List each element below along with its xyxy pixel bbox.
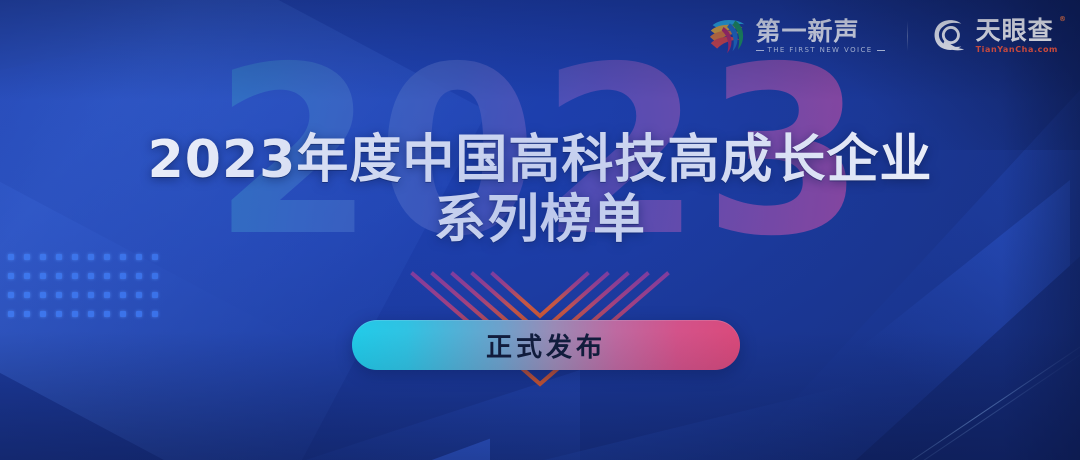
tianyancha-eye-icon (930, 18, 968, 54)
swoosh-logo-icon (708, 17, 748, 55)
logo-tianyancha-domain: TianYanCha.com (976, 46, 1058, 54)
logo-first-new-voice[interactable]: 第一新声 THE FIRST NEW VOICE (708, 17, 885, 55)
bg-facet-left-wedge (0, 21, 320, 460)
bg-facet-right-highlight (770, 180, 1070, 420)
bg-facet-right-plane (720, 0, 1080, 460)
bg-hairline-primary (851, 333, 1080, 460)
promo-banner: 2023 2023年度中国高科技高成长企业 系列榜单 (0, 0, 1080, 460)
logo-tianyancha-name-text: 天眼查 (976, 16, 1054, 45)
bg-vignette (0, 0, 1080, 460)
release-status-pill-label: 正式发布 (486, 327, 606, 364)
logo-divider (907, 21, 908, 51)
bg-hairline-secondary (851, 341, 1080, 460)
logo-tianyancha[interactable]: 天眼查 ® TianYanCha.com (930, 18, 1058, 54)
bg-facet-bottom-left-soft (0, 280, 580, 460)
tagline-rule-right (877, 50, 885, 51)
tagline-rule-left (756, 50, 764, 51)
bg-facet-right-edge (1002, 0, 1080, 460)
partner-logos: 第一新声 THE FIRST NEW VOICE 天眼查 ® (708, 12, 1058, 60)
release-status-pill[interactable]: 正式发布 (352, 320, 740, 370)
page-title: 2023年度中国高科技高成长企业 系列榜单 (0, 132, 1080, 248)
page-title-line-1: 2023年度中国高科技高成长企业 (0, 132, 1080, 188)
decorative-dot-grid (8, 248, 168, 324)
bg-facet-top-left (0, 0, 487, 460)
bg-facet-bottom-center (300, 360, 860, 460)
logo-first-new-voice-name: 第一新声 (756, 19, 885, 44)
logo-tianyancha-name: 天眼查 ® (976, 18, 1058, 43)
registered-trademark-icon: ® (1059, 16, 1067, 23)
tagline-text: THE FIRST NEW VOICE (768, 47, 873, 54)
bg-facet-right-dark (790, 220, 1080, 460)
year-watermark: 2023 (0, 46, 1080, 259)
logo-first-new-voice-tagline: THE FIRST NEW VOICE (756, 47, 885, 54)
page-title-line-2: 系列榜单 (0, 192, 1080, 248)
